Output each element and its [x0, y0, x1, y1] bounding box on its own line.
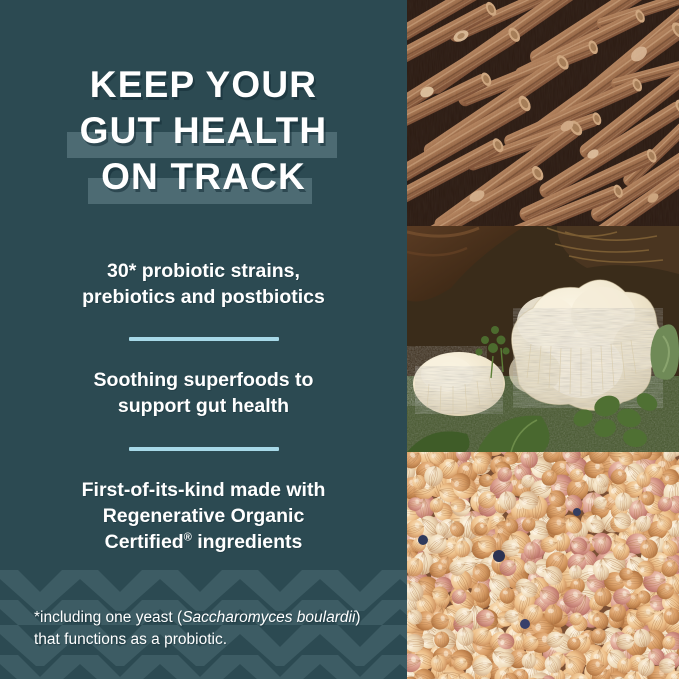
- benefit-strains-line-1: 30* probiotic strains,: [34, 258, 373, 284]
- benefit-superfoods-line-1: Soothing superfoods to: [34, 367, 373, 393]
- photo-column: [407, 0, 679, 679]
- photo-lions-mane-mushroom: [407, 226, 679, 452]
- footnote-species-genus: Saccharomyces: [182, 609, 292, 626]
- headline-block: KEEP YOUR GUT HEALTH ON TRACK: [0, 62, 407, 200]
- divider-rule-2-wrap: [0, 447, 407, 451]
- headline-line-1: KEEP YOUR: [0, 62, 407, 108]
- infographic-canvas: KEEP YOUR GUT HEALTH ON TRACK 30* probio…: [0, 0, 679, 679]
- certified-word: Certified: [105, 531, 184, 553]
- benefit-superfoods-line-2: support gut health: [34, 393, 373, 419]
- registered-trademark-mark: ®: [184, 532, 192, 544]
- benefit-item-regenerative: First-of-its-kind made with Regenerative…: [0, 477, 407, 555]
- left-text-panel: KEEP YOUR GUT HEALTH ON TRACK 30* probio…: [0, 0, 407, 679]
- divider-rule-1-wrap: [0, 337, 407, 341]
- photo-coriander-seeds: [407, 452, 679, 679]
- headline-row-3: ON TRACK: [0, 154, 407, 200]
- benefit-regenerative-line-1: First-of-its-kind made with: [34, 477, 373, 503]
- footnote-species-epithet: boulardii: [297, 609, 356, 626]
- benefit-strains-line-2: prebiotics and postbiotics: [34, 284, 373, 310]
- headline-row-2: GUT HEALTH: [0, 108, 407, 154]
- footnote-part-1: *including one yeast (: [34, 609, 182, 626]
- benefit-regenerative-line-3: Certified® ingredients: [34, 529, 373, 555]
- benefit-list: 30* probiotic strains, prebiotics and po…: [0, 258, 407, 555]
- ingredients-word: ingredients: [192, 531, 303, 553]
- benefit-regenerative-line-2: Regenerative Organic: [34, 503, 373, 529]
- benefit-item-strains: 30* probiotic strains, prebiotics and po…: [0, 258, 407, 310]
- photo-licorice-root: [407, 0, 679, 226]
- headline-line-2: GUT HEALTH: [0, 108, 407, 154]
- benefit-item-superfoods: Soothing superfoods to support gut healt…: [0, 367, 407, 419]
- headline-row-1: KEEP YOUR: [0, 62, 407, 108]
- divider-rule-2: [129, 447, 279, 451]
- footnote-text: *including one yeast (Saccharomyces boul…: [34, 607, 379, 651]
- headline-line-3: ON TRACK: [0, 154, 407, 200]
- divider-rule-1: [129, 337, 279, 341]
